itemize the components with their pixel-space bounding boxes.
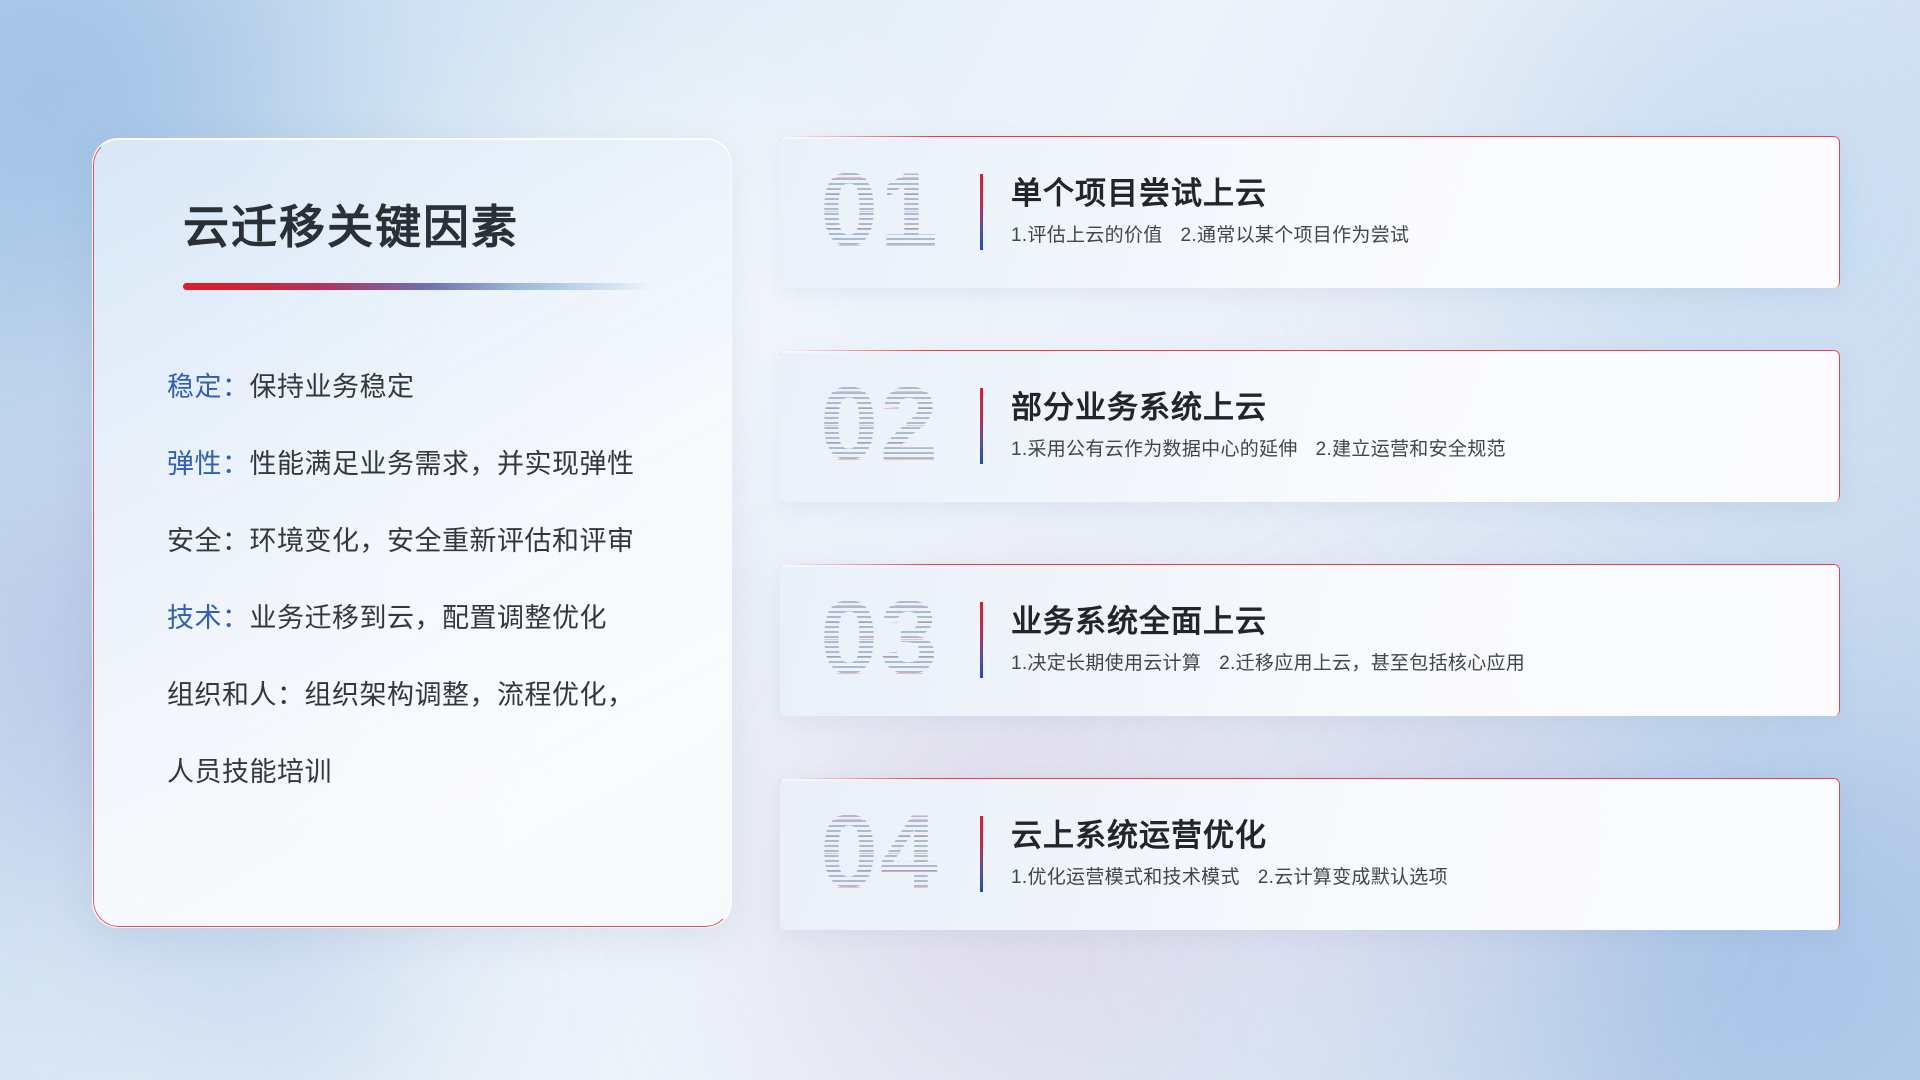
step-subtitle: 1.优化运营模式和技术模式2.云计算变成默认选项 [1011,867,1810,890]
factor-desc: 人员技能培训 [167,757,332,787]
list-item: 技术：业务迁移到云，配置调整优化 [167,605,687,632]
step-number: 02 [820,372,940,476]
step-subtitle: 1.决定长期使用云计算2.迁移应用上云，甚至包括核心应用 [1011,653,1810,676]
page-title: 云迁移关键因素 [145,191,687,257]
step-number-wrap: 03 03 [780,564,980,716]
factor-key: 技术： [167,603,250,633]
factor-key: 稳定： [167,372,250,402]
step-title: 部分业务系统上云 [1011,391,1810,425]
factor-desc: 环境变化，安全重新评估和评审 [250,526,635,556]
step-card[interactable]: 04 04 云上系统运营优化 1.优化运营模式和技术模式2.云计算变成默认选项 [780,778,1840,930]
step-title: 业务系统全面上云 [1011,605,1810,639]
step-point-2: 2.建立运营和安全规范 [1316,439,1506,460]
step-point-1: 1.评估上云的价值 [1011,225,1163,246]
factor-desc: 保持业务稳定 [250,372,415,402]
step-divider-bar [980,174,983,250]
factor-key: 安全： [167,526,250,556]
step-card[interactable]: 03 03 业务系统全面上云 1.决定长期使用云计算2.迁移应用上云，甚至包括核… [780,564,1840,716]
step-point-1: 1.优化运营模式和技术模式 [1011,867,1240,888]
step-title: 云上系统运营优化 [1011,819,1810,853]
title-underline-accent [183,283,653,290]
step-subtitle: 1.采用公有云作为数据中心的延伸2.建立运营和安全规范 [1011,439,1810,462]
step-number-wrap: 01 01 [780,136,980,288]
step-point-1: 1.决定长期使用云计算 [1011,653,1201,674]
factor-key: 弹性： [167,449,250,479]
step-number-wrap: 02 02 [780,350,980,502]
step-title: 单个项目尝试上云 [1011,177,1810,211]
step-card[interactable]: 01 01 单个项目尝试上云 1.评估上云的价值2.通常以某个项目作为尝试 [780,136,1840,288]
list-item: 安全：环境变化，安全重新评估和评审 [167,528,687,555]
step-text: 云上系统运营优化 1.优化运营模式和技术模式2.云计算变成默认选项 [1011,819,1840,890]
key-factors-card: 云迁移关键因素 稳定：保持业务稳定 弹性：性能满足业务需求，并实现弹性 安全：环… [92,138,732,928]
step-number: 04 [820,800,940,904]
factor-desc: 组织架构调整，流程优化， [305,680,635,710]
step-text: 业务系统全面上云 1.决定长期使用云计算2.迁移应用上云，甚至包括核心应用 [1011,605,1840,676]
step-point-2: 2.通常以某个项目作为尝试 [1181,225,1410,246]
factor-key: 组织和人： [167,680,305,710]
step-number: 01 [820,158,940,262]
list-item: 弹性：性能满足业务需求，并实现弹性 [167,451,687,478]
list-item: 组织和人：组织架构调整，流程优化， [167,682,687,709]
step-text: 单个项目尝试上云 1.评估上云的价值2.通常以某个项目作为尝试 [1011,177,1840,248]
step-divider-bar [980,602,983,678]
step-number: 03 [820,586,940,690]
step-point-2: 2.云计算变成默认选项 [1258,867,1448,888]
step-point-2: 2.迁移应用上云，甚至包括核心应用 [1219,653,1525,674]
migration-steps-list: 01 01 单个项目尝试上云 1.评估上云的价值2.通常以某个项目作为尝试 02… [780,136,1840,930]
step-subtitle: 1.评估上云的价值2.通常以某个项目作为尝试 [1011,225,1810,248]
step-divider-bar [980,816,983,892]
step-point-1: 1.采用公有云作为数据中心的延伸 [1011,439,1298,460]
list-item: 稳定：保持业务稳定 [167,374,687,401]
factor-list: 稳定：保持业务稳定 弹性：性能满足业务需求，并实现弹性 安全：环境变化，安全重新… [145,374,687,786]
factor-desc: 业务迁移到云，配置调整优化 [250,603,608,633]
step-divider-bar [980,388,983,464]
list-item: 人员技能培训 [167,759,687,786]
factor-desc: 性能满足业务需求，并实现弹性 [250,449,635,479]
step-card[interactable]: 02 02 部分业务系统上云 1.采用公有云作为数据中心的延伸2.建立运营和安全… [780,350,1840,502]
step-number-wrap: 04 04 [780,778,980,930]
step-text: 部分业务系统上云 1.采用公有云作为数据中心的延伸2.建立运营和安全规范 [1011,391,1840,462]
